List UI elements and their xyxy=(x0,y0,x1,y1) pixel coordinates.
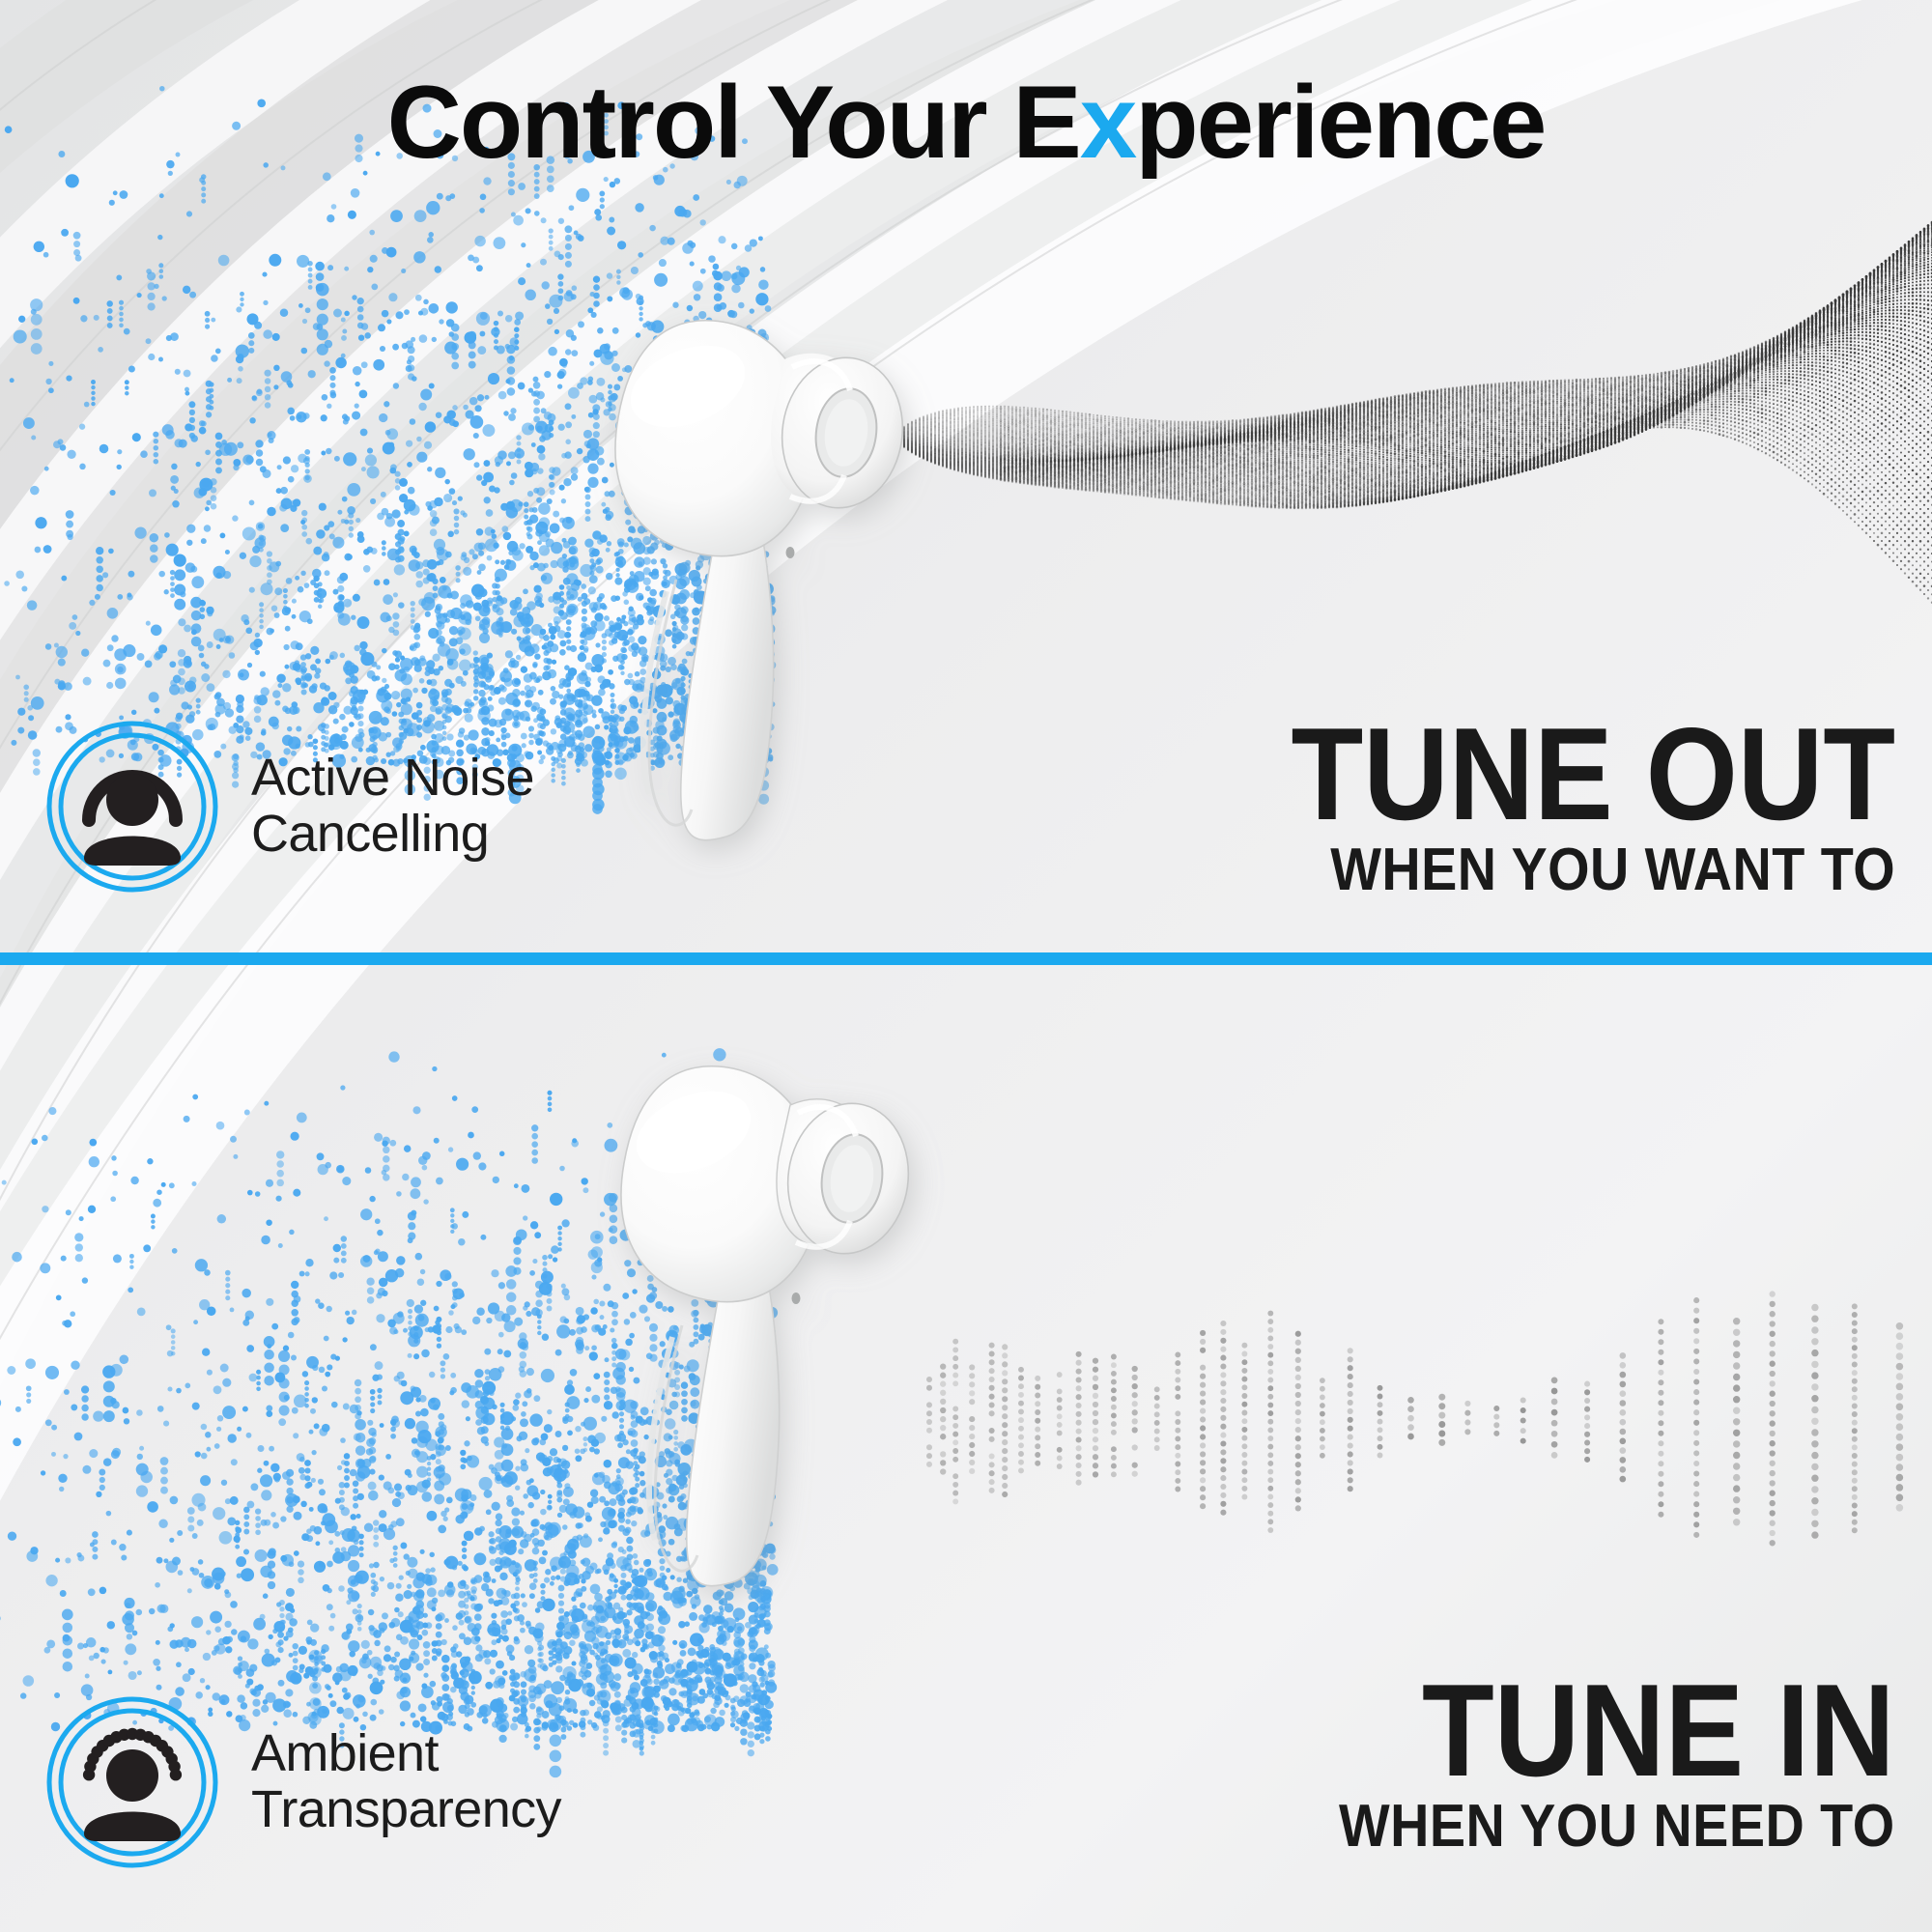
person-dotted-arc-icon xyxy=(46,1696,218,1868)
title-part-2: perience xyxy=(1135,64,1545,180)
headline-tune-out: TUNE OUT WHEN YOU WANT TO xyxy=(1224,717,1895,900)
feature-badge-label: Active Noise Cancelling xyxy=(251,751,534,863)
page-title: Control Your Experience xyxy=(0,70,1932,175)
section-divider xyxy=(0,952,1932,965)
headline-secondary: WHEN YOU NEED TO xyxy=(1339,1797,1895,1857)
headline-primary: TUNE IN xyxy=(1339,1673,1895,1789)
person-solid-arc-icon xyxy=(46,721,218,893)
feature-badge-label: Ambient Transparency xyxy=(251,1726,561,1838)
dotted-equalizer-bars xyxy=(0,0,1932,1932)
product-feature-graphic: Control Your Experience Active Noise Can… xyxy=(0,0,1932,1932)
feature-badge-ambient-transparency[interactable]: Ambient Transparency xyxy=(46,1696,561,1868)
title-accent-letter: x xyxy=(1080,64,1136,180)
noise-particle-cloud-bottom xyxy=(0,0,1932,1932)
feature-badge-active-noise-cancelling[interactable]: Active Noise Cancelling xyxy=(46,721,534,893)
feature-label-line-2: Cancelling xyxy=(251,807,534,863)
background-ribbon-pattern xyxy=(0,0,1932,1932)
feature-label-line-1: Active Noise xyxy=(251,751,534,807)
feature-label-line-2: Transparency xyxy=(251,1782,561,1838)
feature-label-line-1: Ambient xyxy=(251,1726,561,1782)
earbud-top xyxy=(0,0,1932,1932)
noise-particle-cloud-top xyxy=(0,0,1932,1932)
headline-tune-in: TUNE IN WHEN YOU NEED TO xyxy=(1277,1673,1895,1857)
title-part-1: Control Your E xyxy=(387,64,1080,180)
earbud-bottom xyxy=(0,0,1932,1932)
dense-dotted-soundwave xyxy=(0,0,1932,1932)
headline-secondary: WHEN YOU WANT TO xyxy=(1291,840,1895,900)
headline-primary: TUNE OUT xyxy=(1291,717,1895,833)
